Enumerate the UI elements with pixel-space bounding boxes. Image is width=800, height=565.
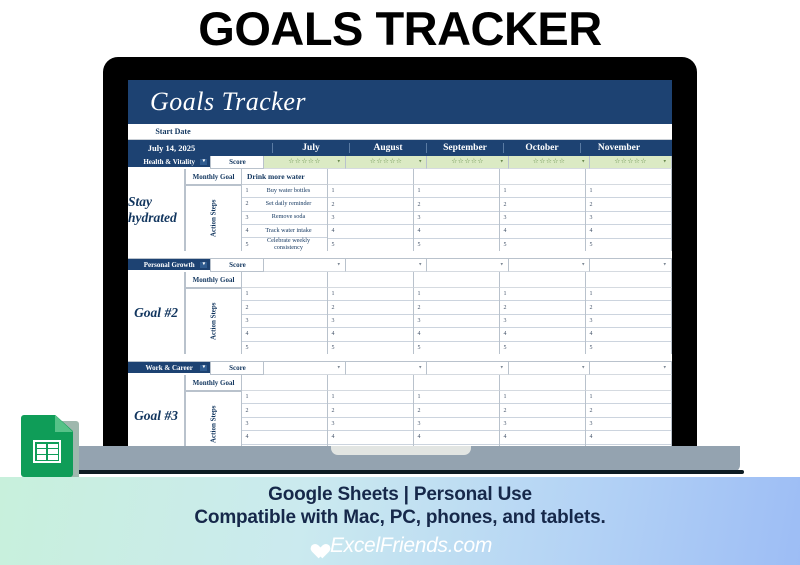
- sheet-title: Goals Tracker: [150, 87, 306, 117]
- step-number: 5: [414, 345, 424, 351]
- step-row: 2: [414, 404, 499, 417]
- goal-2-category-label: Personal Growth: [144, 261, 195, 269]
- step-row: 1: [586, 288, 671, 301]
- step-row: 5: [586, 342, 671, 354]
- step-number: 1: [586, 188, 596, 194]
- goal-separator: [128, 251, 672, 259]
- goal-1-monthlygoal-november[interactable]: [586, 169, 672, 185]
- page-title: GOALS TRACKER: [0, 0, 800, 56]
- step-row: 3: [414, 418, 499, 431]
- sheets-icon-grid: [33, 440, 61, 463]
- goal-3-score-label: Score: [210, 362, 264, 375]
- step-row: 3: [328, 315, 413, 328]
- step-number: 4: [586, 434, 596, 440]
- step-number: 3: [242, 421, 252, 427]
- step-row: 3: [242, 418, 327, 431]
- goal-2-score-label: Score: [210, 259, 264, 272]
- star-rating-icon: ☆☆☆☆☆: [370, 159, 403, 166]
- step-row: 2: [328, 198, 413, 211]
- step-number: 2: [500, 202, 510, 208]
- step-number: 4: [586, 228, 596, 234]
- step-number: 4: [242, 434, 252, 440]
- goal-1-monthlygoal-july[interactable]: Drink more water: [242, 169, 328, 185]
- goal-2-steps-november[interactable]: 1 2 3 4 5: [586, 288, 672, 354]
- step-number: 5: [414, 242, 424, 248]
- step-row: 3Remove soda: [242, 212, 327, 225]
- goal-3-body-row: Goal #3 Monthly Goal Action Steps: [128, 375, 672, 457]
- step-row: 2: [586, 404, 671, 417]
- step-number: 2: [242, 201, 252, 207]
- step-row: 4Track water intake: [242, 225, 327, 238]
- step-number: 2: [328, 408, 338, 414]
- laptop-mockup: Goals Tracker Start Date July 14, 2025 J…: [0, 52, 800, 472]
- step-number: 2: [586, 305, 596, 311]
- goal-1-name[interactable]: Stay hydrated: [128, 169, 185, 251]
- step-number: 5: [328, 242, 338, 248]
- goal-2-score-october[interactable]: ▾: [509, 259, 591, 272]
- laptop-base: [62, 446, 740, 472]
- month-header-july: July: [272, 143, 349, 153]
- chevron-down-icon[interactable]: ▾: [663, 263, 666, 268]
- goal-1-monthlygoal-september[interactable]: [414, 169, 500, 185]
- step-number: 2: [414, 408, 424, 414]
- step-row: 1: [414, 185, 499, 198]
- step-number: 3: [414, 215, 424, 221]
- footer-line-2: Compatible with Mac, PC, phones, and tab…: [194, 507, 605, 529]
- goal-3-monthlygoal-august[interactable]: [328, 375, 414, 391]
- step-number: 3: [328, 318, 338, 324]
- goal-2-steps-october[interactable]: 1 2 3 4 5: [500, 288, 586, 354]
- laptop-base-notch: [331, 446, 471, 455]
- goal-1-category-label: Health & Vitality: [143, 158, 195, 166]
- step-row: 5: [328, 342, 413, 354]
- step-row: 3: [328, 212, 413, 225]
- goal-2-body-row: Goal #2 Monthly Goal Action Steps: [128, 272, 672, 354]
- step-text[interactable]: Track water intake: [252, 228, 327, 235]
- step-number: 4: [242, 228, 252, 234]
- step-row: 1: [586, 391, 671, 404]
- step-number: 4: [414, 434, 424, 440]
- step-row: 1: [500, 391, 585, 404]
- goal-1-monthlygoal-august[interactable]: [328, 169, 414, 185]
- step-row: 4: [242, 328, 327, 341]
- goal-3-score-september[interactable]: ▾: [427, 362, 509, 375]
- goal-1-steps-july[interactable]: 1Buy water bottles 2Set daily reminder 3…: [242, 185, 328, 251]
- step-row: 2: [328, 404, 413, 417]
- step-number: 3: [586, 421, 596, 427]
- goal-1-score-october[interactable]: ☆☆☆☆☆ ▾: [509, 156, 591, 169]
- step-row: 2: [328, 301, 413, 314]
- step-row: 1: [328, 391, 413, 404]
- step-number: 2: [242, 305, 252, 311]
- month-header-november: November: [580, 143, 657, 153]
- step-row: 5: [500, 342, 585, 354]
- step-row: 3: [500, 212, 585, 225]
- step-number: 2: [586, 202, 596, 208]
- step-number: 2: [414, 305, 424, 311]
- goal-2-steps-august[interactable]: 1 2 3 4 5: [328, 288, 414, 354]
- goal-3-monthlygoal-july[interactable]: [242, 375, 328, 391]
- chevron-down-icon[interactable]: ▾: [582, 263, 585, 268]
- goal-3-score-november[interactable]: ▾: [590, 362, 672, 375]
- step-row: 2: [586, 198, 671, 211]
- step-text[interactable]: Remove soda: [252, 214, 327, 221]
- start-date-row: Start Date: [128, 124, 672, 140]
- step-row: 4: [328, 225, 413, 238]
- goal-2-monthlygoal-september[interactable]: [414, 272, 500, 288]
- step-row: 5Celebrate weekly consistency: [242, 238, 327, 251]
- step-number: 1: [586, 394, 596, 400]
- month-header-august: August: [349, 143, 426, 153]
- chevron-down-icon[interactable]: ▾: [582, 366, 585, 371]
- goal-3-score-august[interactable]: ▾: [346, 362, 428, 375]
- goal-3-monthlygoal-october[interactable]: [500, 375, 586, 391]
- goal-1-score-november[interactable]: ☆☆☆☆☆ ▾: [590, 156, 672, 169]
- step-number: 1: [500, 188, 510, 194]
- step-number: 4: [500, 434, 510, 440]
- step-row: 1: [328, 288, 413, 301]
- goal-1-score-august[interactable]: ☆☆☆☆☆ ▾: [346, 156, 428, 169]
- step-number: 2: [414, 202, 424, 208]
- step-row: 4: [586, 431, 671, 444]
- step-row: 3: [328, 418, 413, 431]
- goal-3-score-july[interactable]: ▾: [264, 362, 346, 375]
- step-row: 4: [414, 328, 499, 341]
- step-row: 4: [500, 328, 585, 341]
- step-number: 1: [328, 394, 338, 400]
- goal-1-actionsteps-row: Action Steps 1Buy water bottles 2Set dai…: [185, 185, 672, 251]
- chevron-down-icon[interactable]: ▾: [663, 366, 666, 371]
- goal-2-monthlygoal-august[interactable]: [328, 272, 414, 288]
- chevron-down-icon[interactable]: ▾: [663, 160, 666, 165]
- step-number: 3: [586, 318, 596, 324]
- step-number: 1: [586, 291, 596, 297]
- step-number: 2: [328, 305, 338, 311]
- step-number: 5: [328, 345, 338, 351]
- step-number: 5: [586, 242, 596, 248]
- step-number: 1: [328, 291, 338, 297]
- step-number: 5: [242, 345, 252, 351]
- step-number: 4: [328, 331, 338, 337]
- star-rating-icon: ☆☆☆☆☆: [614, 159, 647, 166]
- footer-brand: ExcelFriends.com: [308, 534, 492, 558]
- goal-1-monthlygoal-october[interactable]: [500, 169, 586, 185]
- step-row: 2: [500, 198, 585, 211]
- goal-1-monthlygoal-row: Stay hydrated Monthly Goal Drink more wa…: [128, 169, 672, 251]
- heart-icon: [308, 538, 325, 554]
- step-row: 2: [500, 404, 585, 417]
- star-rating-icon: ☆☆☆☆☆: [451, 159, 484, 166]
- step-number: 3: [414, 421, 424, 427]
- goal-3-monthlygoal-september[interactable]: [414, 375, 500, 391]
- step-number: 3: [500, 421, 510, 427]
- goal-2-monthlygoal-october[interactable]: [500, 272, 586, 288]
- chevron-down-icon[interactable]: ▾: [337, 263, 340, 268]
- step-number: 3: [500, 215, 510, 221]
- step-number: 3: [242, 318, 252, 324]
- goal-1-score-label: Score: [210, 156, 264, 169]
- step-row: 2: [242, 404, 327, 417]
- goal-1-steps-august[interactable]: 1 2 3 4 5: [328, 185, 414, 251]
- step-row: 2: [242, 301, 327, 314]
- month-header-october: October: [503, 143, 580, 153]
- step-row: 5: [414, 342, 499, 354]
- chevron-down-icon[interactable]: ▾: [200, 365, 207, 371]
- goal-separator: [128, 354, 672, 362]
- step-row: 4: [414, 225, 499, 238]
- step-number: 3: [500, 318, 510, 324]
- footer-line-1: Google Sheets | Personal Use: [268, 484, 532, 506]
- step-text[interactable]: Set daily reminder: [252, 201, 327, 208]
- months-header-row: July 14, 2025 July August September Octo…: [128, 140, 672, 156]
- step-text[interactable]: Buy water bottles: [252, 188, 327, 195]
- step-number: 4: [586, 331, 596, 337]
- chevron-down-icon[interactable]: ▾: [337, 366, 340, 371]
- goal-1-steps-october[interactable]: 1 2 3 4 5: [500, 185, 586, 251]
- step-row: 4: [500, 225, 585, 238]
- step-row: 2: [414, 198, 499, 211]
- step-number: 1: [414, 291, 424, 297]
- laptop-base-shadow: [58, 470, 744, 474]
- chevron-down-icon[interactable]: ▾: [500, 366, 503, 371]
- chevron-down-icon[interactable]: ▾: [419, 366, 422, 371]
- chevron-down-icon[interactable]: ▾: [200, 159, 207, 165]
- goal-2-category[interactable]: Personal Growth ▾: [128, 259, 210, 270]
- step-row: 4: [500, 431, 585, 444]
- chevron-down-icon[interactable]: ▾: [500, 263, 503, 268]
- chevron-down-icon[interactable]: ▾: [500, 160, 503, 165]
- step-row: 3: [242, 315, 327, 328]
- goal-2-score-september[interactable]: ▾: [427, 259, 509, 272]
- step-number: 1: [328, 188, 338, 194]
- goal-block-1: Health & Vitality ▾ Score ☆☆☆☆☆ ▾ ☆☆☆☆☆ …: [128, 156, 672, 251]
- step-row: 3: [586, 212, 671, 225]
- step-row: 1: [414, 391, 499, 404]
- step-row: 1: [328, 185, 413, 198]
- goal-2-steps-july[interactable]: 1 2 3 4 5: [242, 288, 328, 354]
- step-number: 3: [328, 215, 338, 221]
- step-row: 1: [500, 288, 585, 301]
- goal-block-2: Personal Growth ▾ Score ▾ ▾ ▾ ▾ ▾ Goal #…: [128, 259, 672, 354]
- step-number: 5: [586, 345, 596, 351]
- step-row: 4: [414, 431, 499, 444]
- chevron-down-icon[interactable]: ▾: [337, 160, 340, 165]
- step-number: 2: [242, 408, 252, 414]
- goal-2-score-row: Personal Growth ▾ Score ▾ ▾ ▾ ▾ ▾: [128, 259, 672, 272]
- step-number: 2: [500, 305, 510, 311]
- goal-2-score-november[interactable]: ▾: [590, 259, 672, 272]
- step-row: 1: [500, 185, 585, 198]
- goal-3-score-october[interactable]: ▾: [509, 362, 591, 375]
- step-row: 4: [328, 328, 413, 341]
- step-row: 1: [414, 288, 499, 301]
- chevron-down-icon[interactable]: ▾: [200, 262, 207, 268]
- step-number: 1: [242, 291, 252, 297]
- step-number: 2: [328, 202, 338, 208]
- step-number: 5: [500, 345, 510, 351]
- step-row: 2: [414, 301, 499, 314]
- chevron-down-icon[interactable]: ▾: [419, 263, 422, 268]
- star-rating-icon: ☆☆☆☆☆: [288, 159, 321, 166]
- step-row: 1: [586, 185, 671, 198]
- goal-1-score-july[interactable]: ☆☆☆☆☆ ▾: [264, 156, 346, 169]
- step-row: 3: [500, 315, 585, 328]
- chevron-down-icon[interactable]: ▾: [419, 160, 422, 165]
- step-row: 4: [586, 225, 671, 238]
- goal-3-category[interactable]: Work & Career ▾: [128, 362, 210, 373]
- step-row: 5: [328, 239, 413, 251]
- step-text[interactable]: Celebrate weekly consistency: [252, 238, 327, 251]
- brand-text: ExcelFriends.com: [330, 534, 492, 558]
- goal-2-actionsteps-row: Action Steps 1 2 3 4 5 1 2: [185, 288, 672, 354]
- step-row: 2Set daily reminder: [242, 198, 327, 211]
- step-row: 3: [586, 315, 671, 328]
- step-row: 1: [242, 288, 327, 301]
- month-header-september: September: [426, 143, 503, 153]
- step-number: 4: [414, 228, 424, 234]
- step-number: 1: [414, 188, 424, 194]
- goal-2-monthlygoal-november[interactable]: [586, 272, 672, 288]
- goal-1-actionsteps-label: Action Steps: [185, 185, 242, 251]
- goal-2-score-august[interactable]: ▾: [346, 259, 428, 272]
- goal-1-score-september[interactable]: ☆☆☆☆☆ ▾: [427, 156, 509, 169]
- step-row: 4: [328, 431, 413, 444]
- step-number: 3: [586, 215, 596, 221]
- step-row: 3: [586, 418, 671, 431]
- start-date-value[interactable]: July 14, 2025: [128, 143, 215, 153]
- step-number: 3: [328, 421, 338, 427]
- goal-2-actionsteps-label: Action Steps: [185, 288, 242, 354]
- goal-block-3: Work & Career ▾ Score ▾ ▾ ▾ ▾ ▾ Goal #3 …: [128, 362, 672, 457]
- goal-3-name[interactable]: Goal #3: [128, 375, 185, 457]
- star-rating-icon: ☆☆☆☆☆: [533, 159, 566, 166]
- goal-2-monthlygoal-july[interactable]: [242, 272, 328, 288]
- goal-3-monthlygoal-november[interactable]: [586, 375, 672, 391]
- step-row: 2: [500, 301, 585, 314]
- step-number: 4: [500, 228, 510, 234]
- step-row: 3: [414, 212, 499, 225]
- goal-1-score-row: Health & Vitality ▾ Score ☆☆☆☆☆ ▾ ☆☆☆☆☆ …: [128, 156, 672, 169]
- step-row: 2: [586, 301, 671, 314]
- google-sheets-icon: [21, 415, 73, 477]
- step-row: 4: [586, 328, 671, 341]
- goal-1-monthlygoal-label: Monthly Goal: [185, 169, 242, 185]
- step-number: 4: [242, 331, 252, 337]
- goal-1-category[interactable]: Health & Vitality ▾: [128, 156, 210, 167]
- step-row: 5: [500, 239, 585, 251]
- step-number: 2: [500, 408, 510, 414]
- goal-2-steps-september[interactable]: 1 2 3 4 5: [414, 288, 500, 354]
- step-number: 5: [242, 242, 252, 248]
- chevron-down-icon[interactable]: ▾: [582, 160, 585, 165]
- goal-3-category-label: Work & Career: [146, 364, 193, 372]
- goal-1-steps-september[interactable]: 1 2 3 4 5: [414, 185, 500, 251]
- sheet-header: Goals Tracker: [128, 80, 672, 124]
- step-number: 5: [500, 242, 510, 248]
- step-row: 4: [242, 431, 327, 444]
- footer-banner: Google Sheets | Personal Use Compatible …: [0, 477, 800, 565]
- goal-1-steps-november[interactable]: 1 2 3 4 5: [586, 185, 672, 251]
- laptop-screen: Goals Tracker Start Date July 14, 2025 J…: [128, 80, 672, 480]
- step-row: 5: [586, 239, 671, 251]
- step-number: 4: [500, 331, 510, 337]
- step-number: 2: [586, 408, 596, 414]
- step-number: 1: [500, 394, 510, 400]
- goal-2-name[interactable]: Goal #2: [128, 272, 185, 354]
- step-number: 1: [242, 394, 252, 400]
- goal-2-score-july[interactable]: ▾: [264, 259, 346, 272]
- step-number: 4: [414, 331, 424, 337]
- step-number: 1: [500, 291, 510, 297]
- step-row: 5: [414, 239, 499, 251]
- step-row: 3: [414, 315, 499, 328]
- step-row: 1: [242, 391, 327, 404]
- goal-3-monthlygoal-label: Monthly Goal: [185, 375, 242, 391]
- step-number: 4: [328, 228, 338, 234]
- step-number: 3: [414, 318, 424, 324]
- step-row: 3: [500, 418, 585, 431]
- step-number: 1: [414, 394, 424, 400]
- spreadsheet: Goals Tracker Start Date July 14, 2025 J…: [128, 80, 672, 480]
- step-number: 1: [242, 188, 252, 194]
- step-row: 1Buy water bottles: [242, 185, 327, 198]
- start-date-label: Start Date: [128, 127, 218, 136]
- step-row: 5: [242, 342, 327, 354]
- step-number: 4: [328, 434, 338, 440]
- step-number: 3: [242, 215, 252, 221]
- goal-2-monthlygoal-label: Monthly Goal: [185, 272, 242, 288]
- goal-3-score-row: Work & Career ▾ Score ▾ ▾ ▾ ▾ ▾: [128, 362, 672, 375]
